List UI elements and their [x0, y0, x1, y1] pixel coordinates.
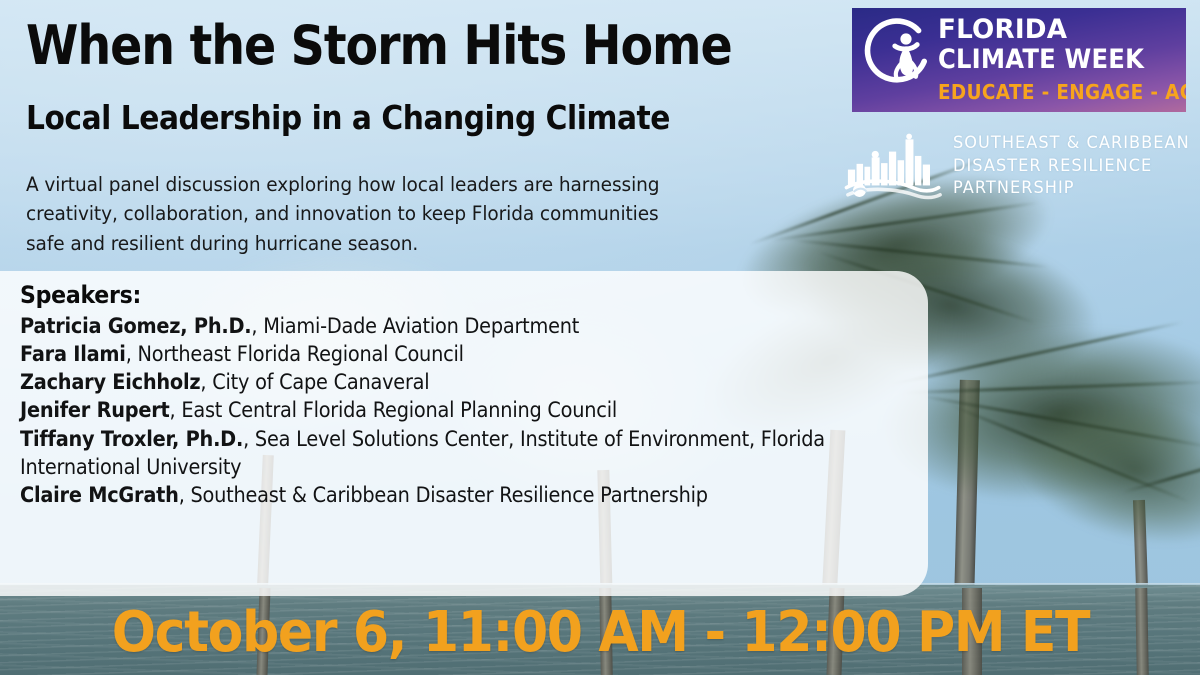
speaker-org: , Northeast Florida Regional Council — [126, 342, 464, 366]
event-flyer: When the Storm Hits Home Local Leadershi… — [0, 0, 1200, 675]
speakers-card: Speakers: Patricia Gomez, Ph.D., Miami-D… — [0, 271, 928, 596]
speaker-list-item: Fara Ilami, Northeast Florida Regional C… — [20, 340, 922, 368]
speaker-name: Fara Ilami — [20, 342, 126, 366]
speaker-org: , Southeast & Caribbean Disaster Resilie… — [179, 483, 708, 507]
speaker-list-item: Patricia Gomez, Ph.D., Miami-Dade Aviati… — [20, 312, 922, 340]
event-datetime-text: October 6, 11:00 AM - 12:00 PM ET — [111, 600, 1088, 665]
person-in-circle-icon — [864, 18, 934, 88]
city-skyline-waves-icon — [843, 130, 945, 202]
florida-climate-week-logo: FLORIDA CLIMATE WEEK EDUCATE - ENGAGE - … — [852, 8, 1186, 112]
speakers-heading: Speakers: — [20, 281, 848, 309]
speaker-org: , City of Cape Canaveral — [200, 370, 429, 394]
speaker-list-item: Tiffany Troxler, Ph.D., Sea Level Soluti… — [20, 425, 922, 481]
florida-climate-week-wordmark: FLORIDA CLIMATE WEEK — [938, 16, 1182, 73]
scdrp-line3: PARTNERSHIP — [953, 177, 1181, 200]
speaker-list-item: Claire McGrath, Southeast & Caribbean Di… — [20, 481, 922, 509]
fcw-line1: FLORIDA — [938, 16, 1175, 43]
speaker-name: Tiffany Troxler, Ph.D. — [20, 427, 243, 451]
speaker-list-item: Zachary Eichholz, City of Cape Canaveral — [20, 368, 922, 396]
speaker-list-item: Jenifer Rupert, East Central Florida Reg… — [20, 396, 922, 424]
scdrp-logo: SOUTHEAST & CARIBBEAN DISASTER RESILIENC… — [843, 128, 1188, 206]
speaker-org: , East Central Florida Regional Planning… — [170, 398, 617, 422]
speaker-name: Jenifer Rupert — [20, 398, 170, 422]
event-description: A virtual panel discussion exploring how… — [26, 170, 691, 258]
scdrp-line2: DISASTER RESILIENCE — [953, 155, 1181, 178]
page-title: When the Storm Hits Home — [26, 18, 756, 74]
event-datetime: October 6, 11:00 AM - 12:00 PM ET — [0, 600, 1200, 665]
speaker-name: Zachary Eichholz — [20, 370, 200, 394]
page-subtitle: Local Leadership in a Changing Climate — [26, 100, 818, 136]
fcw-tagline: EDUCATE - ENGAGE - ACT — [938, 80, 1166, 104]
scdrp-line1: SOUTHEAST & CARIBBEAN — [953, 132, 1181, 155]
speaker-org: , Miami-Dade Aviation Department — [251, 314, 579, 338]
scdrp-wordmark: SOUTHEAST & CARIBBEAN DISASTER RESILIENC… — [953, 132, 1193, 200]
fcw-line2: CLIMATE WEEK — [938, 46, 1158, 73]
speaker-name: Patricia Gomez, Ph.D. — [20, 314, 251, 338]
speaker-name: Claire McGrath — [20, 483, 179, 507]
